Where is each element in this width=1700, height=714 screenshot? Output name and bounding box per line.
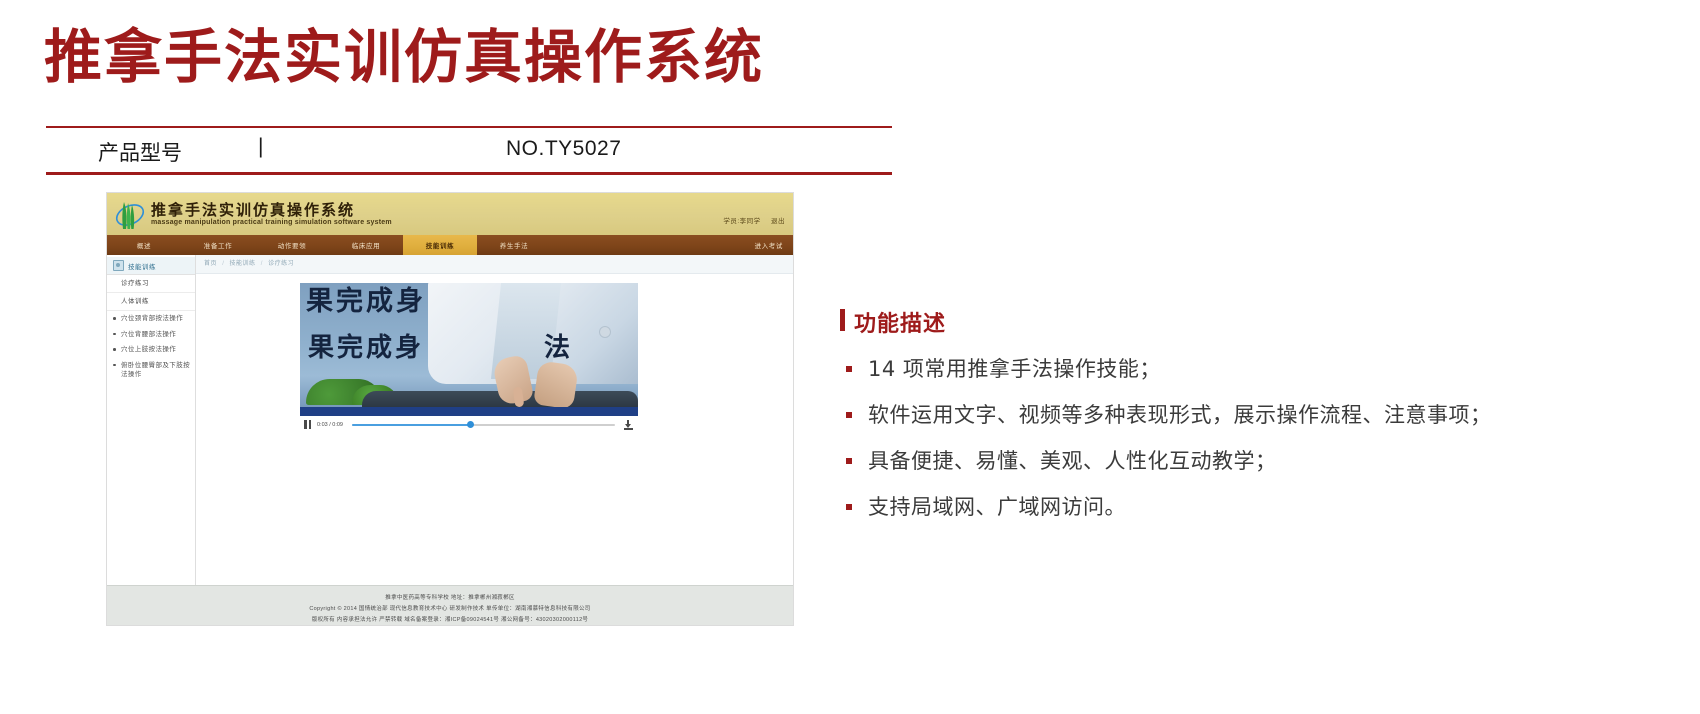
footer-address: 推拿中医药高等专科学校 地址：推拿郴州湘菽郴区 <box>107 593 793 604</box>
section-icon <box>113 260 124 271</box>
nav-item-clinical[interactable]: 临床应用 <box>329 235 403 255</box>
sidebar-section-header[interactable]: 技能训练 <box>107 257 195 275</box>
video-caption-top: 果完成身 <box>306 283 426 318</box>
video-frame[interactable]: 果完成身 果完成身 法 <box>300 283 638 416</box>
sidebar-item-body-training[interactable]: 人体训练 <box>107 293 195 311</box>
download-icon[interactable] <box>624 420 633 430</box>
nav-item-health-methods[interactable]: 养生手法 <box>477 235 551 255</box>
model-row: 产品型号 | NO.TY5027 <box>46 133 892 171</box>
model-value: NO.TY5027 <box>506 137 621 161</box>
breadcrumb-home[interactable]: 首页 <box>204 261 217 267</box>
nav-item-skill-training[interactable]: 技能训练 <box>403 235 477 255</box>
video-time-display: 0:03 / 0:09 <box>317 422 343 428</box>
app-sidebar: 技能训练 诊疗练习 人体训练 穴位颈背部按法操作 穴位背腰部法操作 穴位上肢按法… <box>107 255 196 585</box>
header-rule-bottom <box>46 172 892 175</box>
feature-item: 14 项常用推拿手法操作技能； <box>840 352 1540 386</box>
model-label: 产品型号 <box>98 137 182 167</box>
features-heading: 功能描述 <box>840 306 1540 338</box>
header-username: 学员:李同学 <box>723 218 760 225</box>
video-caption-mid: 果完成身 <box>308 327 424 364</box>
sidebar-sub-item[interactable]: 俯卧位腰臀部及下肢按法操作 <box>107 358 195 383</box>
app-content: 首页 / 技能训练 / 诊疗练习 <box>196 255 793 585</box>
video-hand <box>533 360 579 409</box>
features-panel: 功能描述 14 项常用推拿手法操作技能； 软件运用文字、视频等多种表现形式，展示… <box>840 306 1540 536</box>
video-progress-fill <box>352 424 470 426</box>
app-logo-icon <box>115 198 145 231</box>
app-screenshot: 推拿手法实训仿真操作系统 massage manipulation practi… <box>107 193 793 625</box>
sidebar-sub-item[interactable]: 穴位背腰部法操作 <box>107 327 195 343</box>
video-control-bar: 0:03 / 0:09 <box>300 416 638 433</box>
feature-item: 具备便捷、易懂、美观、人性化互动教学； <box>840 444 1540 478</box>
sidebar-item-diagnosis-practice[interactable]: 诊疗练习 <box>107 275 195 293</box>
nav-enter-exam[interactable]: 进入考试 <box>745 235 793 255</box>
logout-link[interactable]: 退出 <box>771 218 785 225</box>
app-body: 技能训练 诊疗练习 人体训练 穴位颈背部按法操作 穴位背腰部法操作 穴位上肢按法… <box>107 255 793 585</box>
video-bottom-strip <box>300 407 638 416</box>
header-user-area: 学员:李同学 退出 <box>715 215 785 225</box>
sidebar-sub-item[interactable]: 穴位颈背部按法操作 <box>107 311 195 327</box>
breadcrumb-skill-training[interactable]: 技能训练 <box>230 261 256 267</box>
header-rule-top <box>46 126 892 128</box>
app-title-zh: 推拿手法实训仿真操作系统 <box>151 199 355 220</box>
sidebar-sub-item[interactable]: 穴位上肢按法操作 <box>107 342 195 358</box>
feature-item: 支持局域网、广域网访问。 <box>840 490 1540 524</box>
download-icon-bar <box>624 428 633 430</box>
model-separator: | <box>258 135 263 159</box>
app-nav-bar: 概述 准备工作 动作要领 临床应用 技能训练 养生手法 进入考试 <box>107 235 793 255</box>
nav-item-key-points[interactable]: 动作要领 <box>255 235 329 255</box>
video-progress-slider[interactable] <box>352 424 615 426</box>
nav-item-preparation[interactable]: 准备工作 <box>181 235 255 255</box>
app-header: 推拿手法实训仿真操作系统 massage manipulation practi… <box>107 193 793 235</box>
app-title-en: massage manipulation practical training … <box>151 219 392 226</box>
video-caption-right: 法 <box>544 327 570 364</box>
video-player[interactable]: 果完成身 果完成身 法 0:03 / 0:09 <box>300 283 638 433</box>
video-coat-button <box>600 327 610 337</box>
footer-copyright: Copyright © 2014 国情统治部 现代信息教育技术中心 研发制作技术… <box>107 604 793 615</box>
page-title: 推拿手法实训仿真操作系统 <box>44 26 764 90</box>
breadcrumb-current: 诊疗练习 <box>268 261 294 267</box>
app-footer: 推拿中医药高等专科学校 地址：推拿郴州湘菽郴区 Copyright © 2014… <box>107 585 793 625</box>
breadcrumb-separator: / <box>261 261 263 267</box>
features-list: 14 项常用推拿手法操作技能； 软件运用文字、视频等多种表现形式，展示操作流程、… <box>840 352 1540 524</box>
feature-item: 软件运用文字、视频等多种表现形式，展示操作流程、注意事项； <box>840 398 1540 432</box>
pause-icon[interactable] <box>304 420 312 429</box>
footer-icp: 版权所有 内容承担法允许 严禁转载 域名备案登录：湘ICP备09024541号 … <box>107 615 793 625</box>
breadcrumb-separator: / <box>222 261 224 267</box>
nav-item-overview[interactable]: 概述 <box>107 235 181 255</box>
breadcrumb: 首页 / 技能训练 / 诊疗练习 <box>196 255 793 274</box>
sidebar-section-label: 技能训练 <box>128 261 156 271</box>
video-progress-handle[interactable] <box>467 421 474 428</box>
